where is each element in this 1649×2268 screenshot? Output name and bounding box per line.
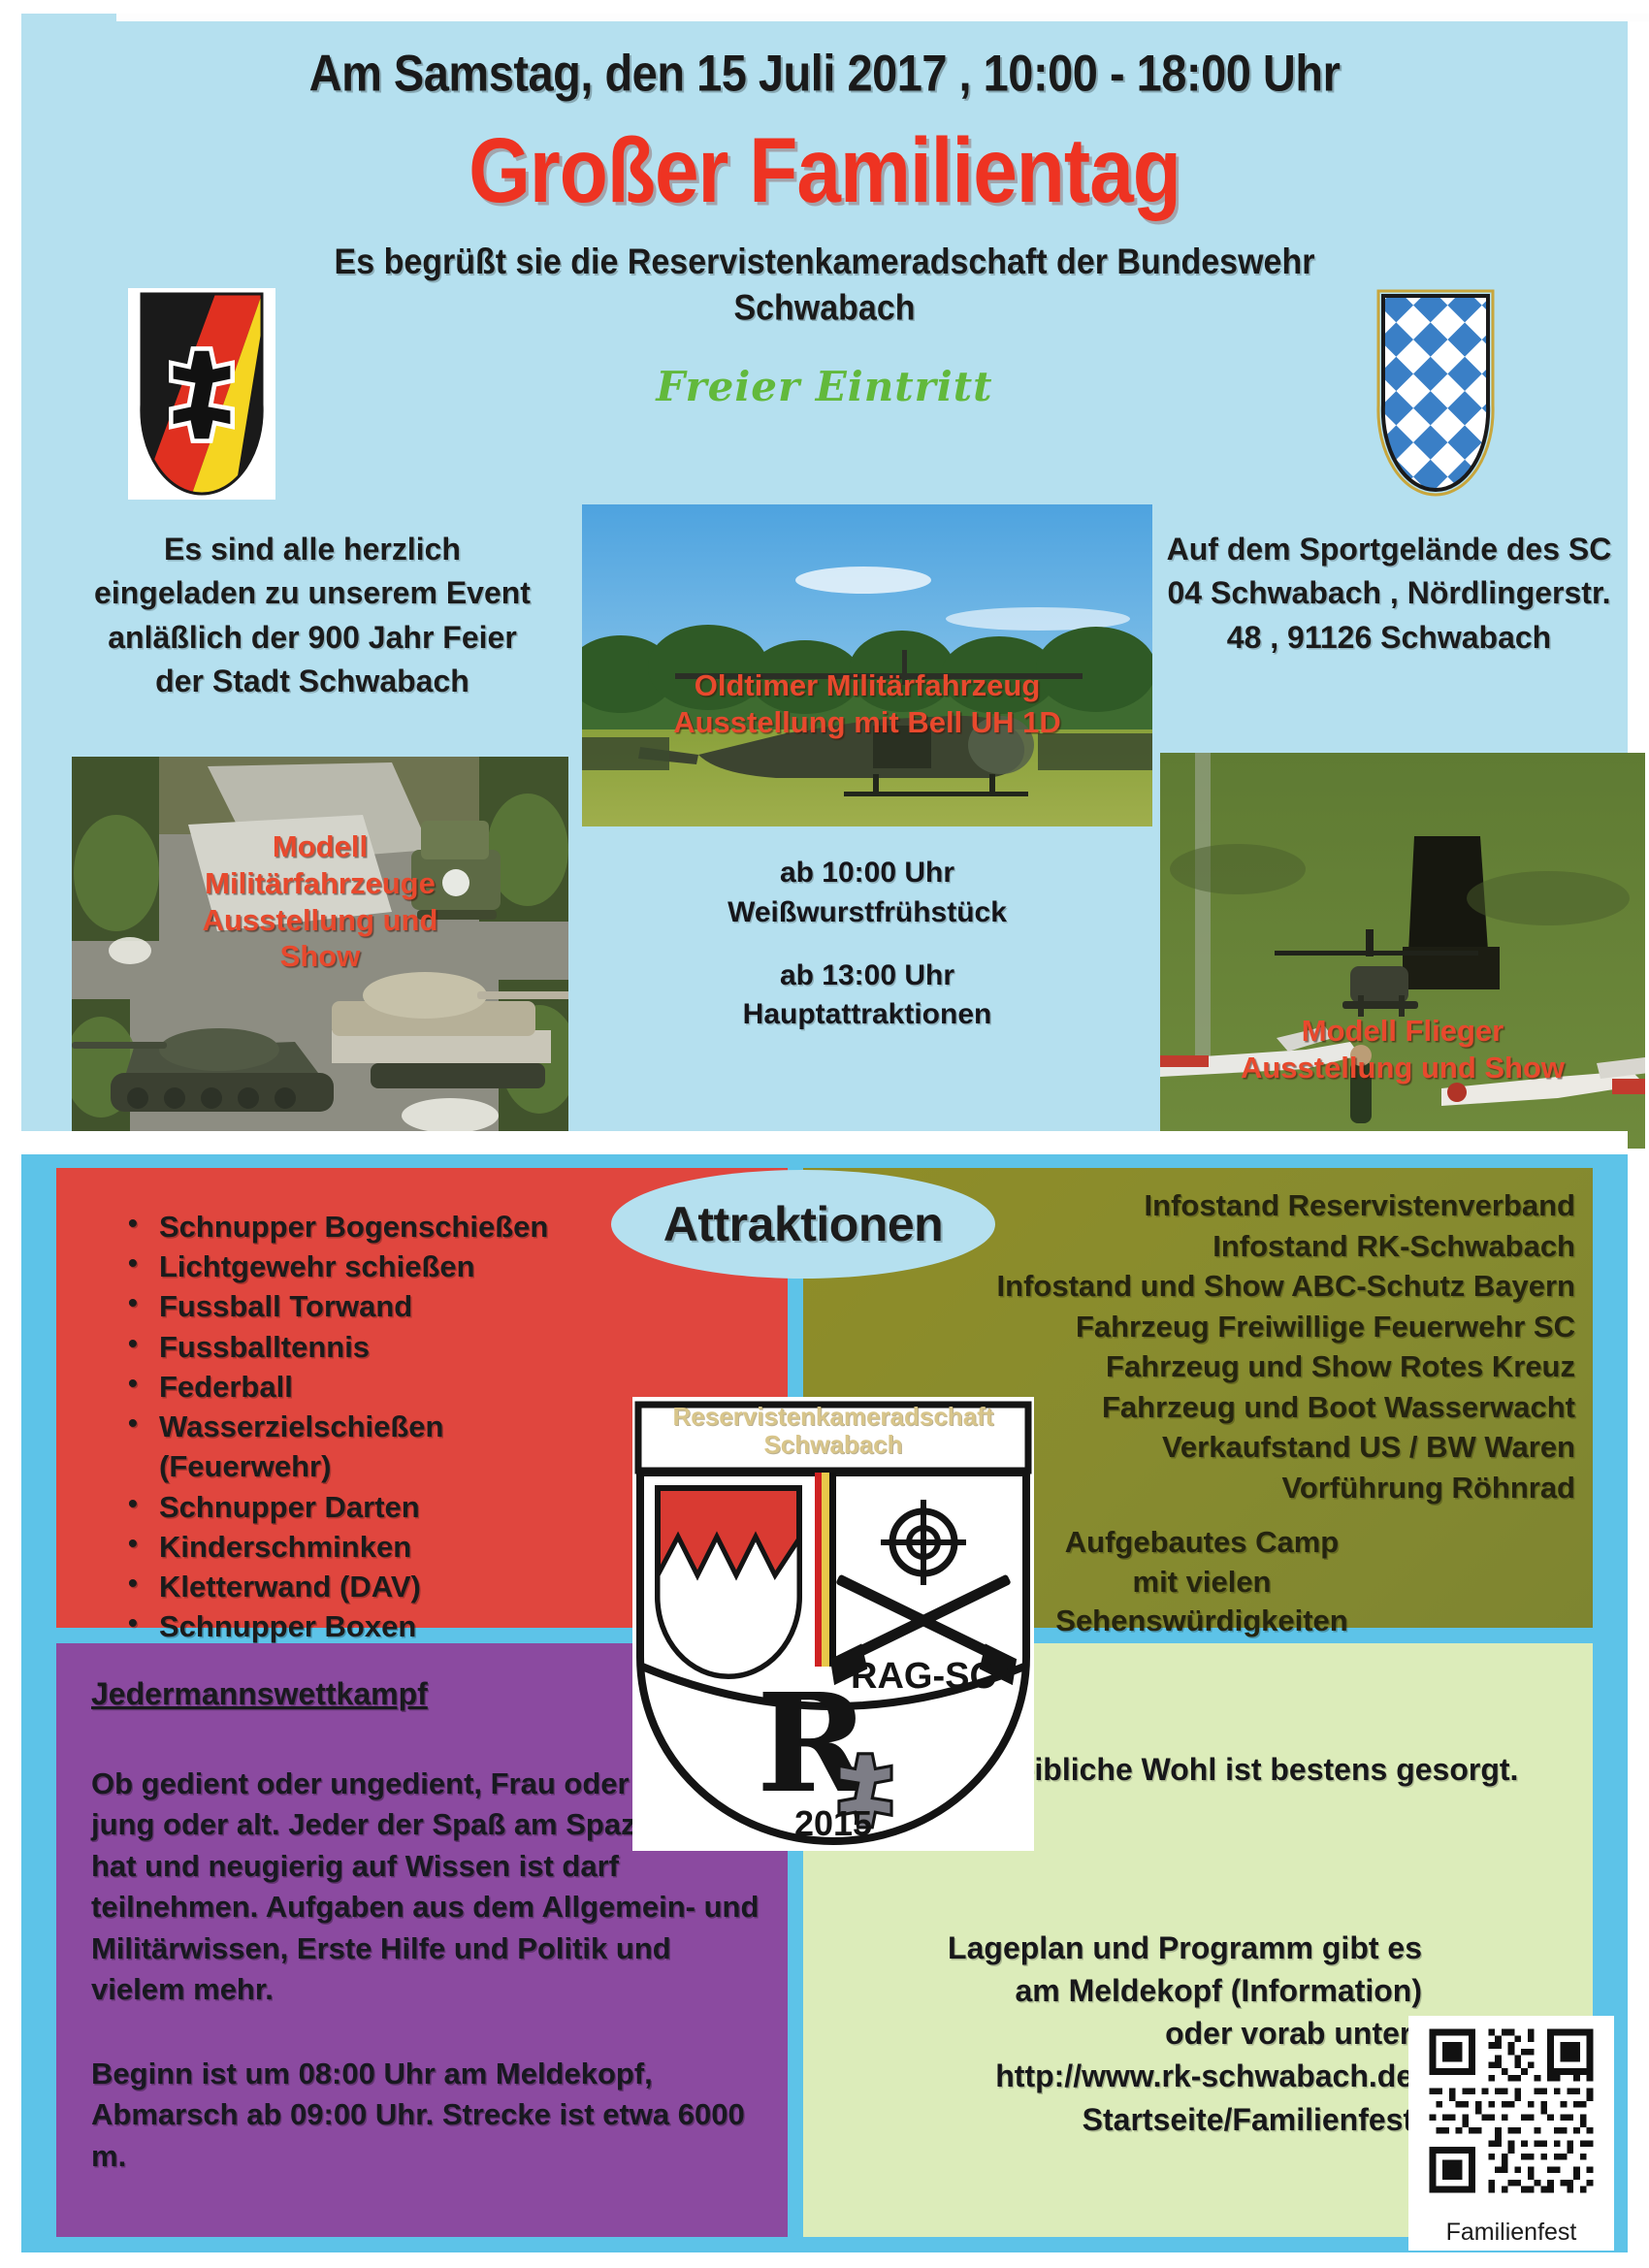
website-url-line-2[interactable]: Startseite/Familienfest/: [821, 2098, 1422, 2141]
intro-right-text: Auf dem Sportgelände des SC 04 Schwabach…: [1147, 528, 1632, 660]
contact-line-2: am Meldekopf (Information): [821, 1969, 1422, 2012]
helicopter-caption-line-2: Ausstellung mit Bell UH 1D: [582, 704, 1152, 741]
schedule-item-1-time: ab 10:00 Uhr: [582, 854, 1152, 893]
poster-page: Am Samstag, den 15 Juli 2017 , 10:00 - 1…: [0, 0, 1649, 2268]
model-planes-caption-line-2: Ausstellung und Show: [1160, 1050, 1645, 1086]
model-vehicles-caption-line-3: Ausstellung und: [72, 902, 568, 939]
bundeswehr-crest-icon: [128, 288, 275, 500]
model-vehicles-caption: Modell Militärfahrzeuge Ausstellung und …: [72, 828, 568, 975]
model-planes-caption: Modell Flieger Ausstellung und Show: [1160, 1013, 1645, 1086]
model-vehicles-caption-line-2: Militärfahrzeuge: [72, 865, 568, 902]
schedule-item-2-label: Hauptattraktionen: [582, 995, 1152, 1035]
qr-code-block[interactable]: Familienfest: [1408, 2016, 1614, 2251]
model-vehicles-caption-line-1: Modell: [72, 828, 568, 865]
model-vehicles-photo: Modell Militärfahrzeuge Ausstellung und …: [72, 757, 568, 1147]
contact-line-3: oder vorab unter:: [821, 2012, 1422, 2055]
attractions-heading-badge: Attraktionen: [611, 1170, 995, 1279]
model-planes-photo: Modell Flieger Ausstellung und Show: [1160, 753, 1645, 1149]
subtitle-line-1: Es begrüßt sie die Reservistenkameradsch…: [21, 240, 1628, 285]
rk-schwabach-emblem-icon: RAG-SC R 2015: [632, 1397, 1034, 1851]
poster-title: Großer Familientag: [21, 119, 1628, 224]
helicopter-photo: Oldtimer Militärfahrzeug Ausstellung mit…: [582, 504, 1152, 826]
qr-code-label: Familienfest: [1408, 2219, 1614, 2247]
header-panel: Am Samstag, den 15 Juli 2017 , 10:00 - 1…: [21, 14, 1628, 1131]
intro-left-text: Es sind alle herzlich eingeladen zu unse…: [80, 528, 545, 704]
paper-edge-top: [116, 14, 1649, 21]
list-item: Fahrzeug und Show Rotes Kreuz: [828, 1346, 1575, 1387]
rag-sc-label: RAG-SC: [851, 1656, 996, 1697]
contact-info: Lageplan und Programm gibt es am Meldeko…: [821, 1927, 1422, 2141]
association-logo: RAG-SC R 2015 Reservistenkameradschaft S…: [632, 1397, 1034, 1851]
attractions-heading-label: Attraktionen: [663, 1196, 943, 1252]
paper-edge-bottom: [0, 2252, 1649, 2268]
emblem-title: Reservistenkameradschaft Schwabach: [640, 1403, 1026, 1458]
contact-line-1: Lageplan und Programm gibt es: [821, 1927, 1422, 1969]
emblem-title-line-2: Schwabach: [640, 1431, 1026, 1459]
list-item: Infostand und Show ABC-Schutz Bayern: [828, 1266, 1575, 1307]
helicopter-caption: Oldtimer Militärfahrzeug Ausstellung mit…: [582, 667, 1152, 741]
event-date-line: Am Samstag, den 15 Juli 2017 , 10:00 - 1…: [21, 43, 1628, 103]
website-url-line-1[interactable]: http://www.rk-schwabach.de/: [821, 2055, 1422, 2097]
list-item: Fussball Torwand: [114, 1286, 755, 1326]
helicopter-caption-line-1: Oldtimer Militärfahrzeug: [582, 667, 1152, 704]
bavaria-crest-icon: [1362, 288, 1509, 500]
emblem-title-line-1: Reservistenkameradschaft: [640, 1403, 1026, 1431]
schedule-block: ab 10:00 Uhr Weißwurstfrühstück ab 13:00…: [582, 854, 1152, 1035]
list-item: Fussballtennis: [114, 1327, 755, 1367]
list-item: Fahrzeug Freiwillige Feuerwehr SC: [828, 1307, 1575, 1347]
contest-title: Jedermannswettkampf: [91, 1676, 712, 1712]
contest-paragraph-2: Beginn ist um 08:00 Uhr am Meldekopf, Ab…: [91, 2054, 760, 2177]
paper-edge-left: [0, 0, 23, 1145]
schedule-item-1-label: Weißwurstfrühstück: [582, 893, 1152, 933]
founding-year-label: 2015: [794, 1803, 872, 1843]
model-planes-caption-line-1: Modell Flieger: [1160, 1013, 1645, 1050]
panel-gap: [21, 1131, 1628, 1154]
model-vehicles-caption-line-4: Show: [72, 938, 568, 975]
qr-code-icon: [1408, 2016, 1614, 2206]
schedule-item-2-time: ab 13:00 Uhr: [582, 956, 1152, 996]
